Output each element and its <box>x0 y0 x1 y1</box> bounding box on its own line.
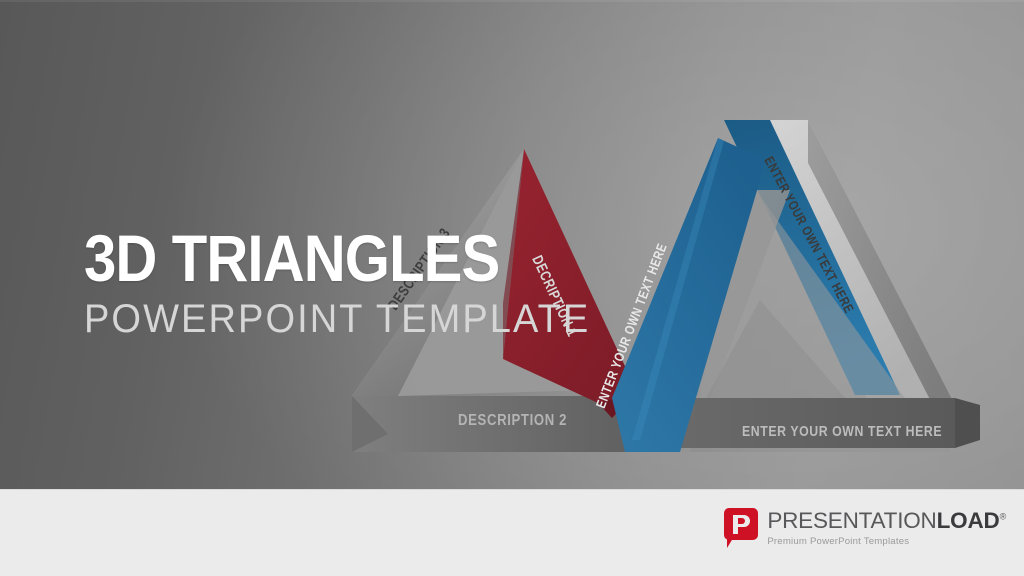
speech-bubble-p-icon <box>724 508 758 548</box>
right-triangle-base <box>655 398 955 448</box>
logo-word-presentation: PRESENTATION <box>767 508 936 533</box>
right-triangle-group <box>612 120 980 452</box>
presentationload-logo[interactable]: PRESENTATIONLOAD® Premium PowerPoint Tem… <box>724 508 1006 548</box>
slide-canvas: DESCRIPTION 3 DECRIPTION 1 DESCRIPTION 2… <box>0 0 1024 576</box>
logo-text-block: PRESENTATIONLOAD® Premium PowerPoint Tem… <box>767 508 1006 547</box>
headline-block: 3D TRIANGLES POWERPOINT TEMPLATE <box>84 226 617 339</box>
page-subtitle: POWERPOINT TEMPLATE <box>84 299 590 339</box>
footer-bar: PRESENTATIONLOAD® Premium PowerPoint Tem… <box>0 489 1024 576</box>
logo-tagline: Premium PowerPoint Templates <box>767 536 1006 547</box>
page-title: 3D TRIANGLES <box>84 226 553 291</box>
right-triangle-base-right <box>955 398 980 448</box>
logo-word-load: LOAD <box>937 508 1000 533</box>
footer-divider <box>0 489 1024 490</box>
logo-registered-mark: ® <box>1000 512 1006 522</box>
logo-wordmark: PRESENTATIONLOAD® <box>767 510 1006 533</box>
